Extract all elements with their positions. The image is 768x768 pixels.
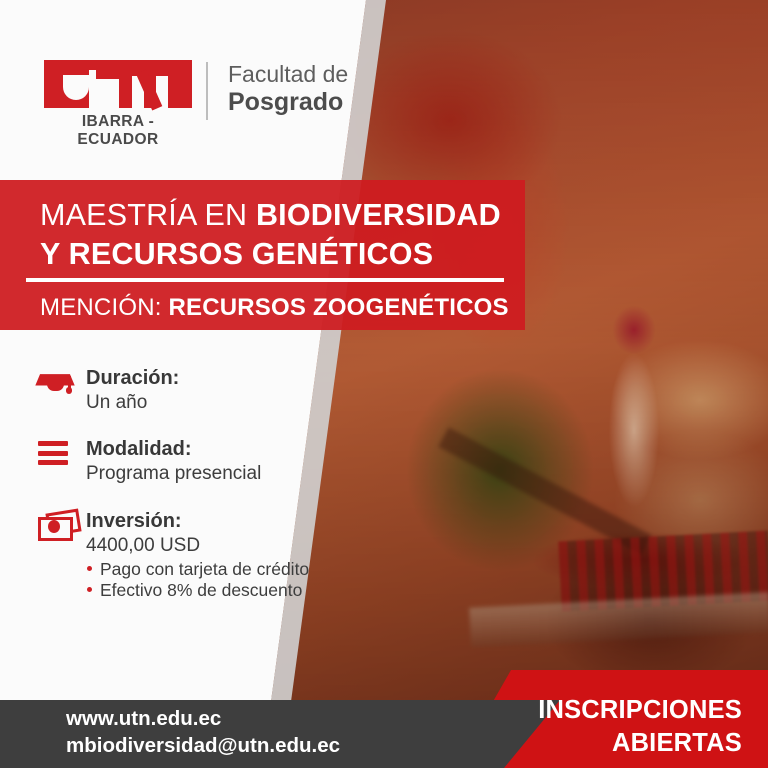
header: IBARRA - ECUADOR Facultad de Posgrado [44,60,348,134]
mencion-value: RECURSOS ZOOGENÉTICOS [168,294,508,321]
footer-links: www.utn.edu.ec mbiodiversidad@utn.edu.ec [66,706,340,759]
money-icon [38,511,78,541]
graduation-cap-icon [38,368,78,398]
faculty-line-2: Posgrado [228,88,348,116]
info-value-inversion: 4400,00 USD [86,534,338,558]
program-title: MAESTRÍA EN BIODIVERSIDAD Y RECURSOS GEN… [40,196,510,274]
logo-letter-t-right [106,78,119,108]
website-suffix: .edu.ec [151,707,222,730]
logo-letter-u [63,75,89,100]
logo-top-bar [44,60,192,69]
program-title-prefix: MAESTRÍA EN [40,198,256,232]
program-title-bold-2: Y RECURSOS GENÉTICOS [40,237,433,271]
info-label-modalidad: Modalidad: [86,437,338,462]
mencion-label: MENCIÓN: [40,294,168,321]
cta-line-1: INSCRIPCIONES [470,694,742,727]
info-item-inversion: Inversión: 4400,00 USD Pago con tarjeta … [38,509,338,602]
website-brand: utn [119,707,151,730]
faculty-block: Facultad de Posgrado [228,60,348,116]
utn-logo[interactable]: IBARRA - ECUADOR [44,60,192,134]
email-link[interactable]: mbiodiversidad@utn.edu.ec [66,733,340,760]
bars-icon [38,439,78,469]
inversion-bullet-list: Pago con tarjeta de crédito Efectivo 8% … [86,559,338,602]
title-banner: MAESTRÍA EN BIODIVERSIDAD Y RECURSOS GEN… [0,180,525,330]
info-value-duracion: Un año [86,391,338,415]
header-divider [206,62,208,120]
info-item-modalidad: Modalidad: Programa presencial [38,437,338,486]
info-value-modalidad: Programa presencial [86,462,338,486]
list-item: Pago con tarjeta de crédito [86,559,338,580]
list-item: Efectivo 8% de descuento [86,580,338,601]
info-list: Duración: Un año Modalidad: Programa pre… [38,366,338,624]
info-item-duracion: Duración: Un año [38,366,338,415]
website-prefix: www. [66,707,119,730]
info-label-inversion: Inversión: [86,509,338,534]
mencion-row: MENCIÓN: RECURSOS ZOOGENÉTICOS [40,294,509,322]
banner-divider-line [26,278,504,282]
cta-line-2: ABIERTAS [470,727,742,760]
website-link[interactable]: www.utn.edu.ec [66,706,340,733]
logo-subtitle: IBARRA - ECUADOR [44,113,192,149]
faculty-line-1: Facultad de [228,62,348,88]
program-title-bold-1: BIODIVERSIDAD [256,198,501,232]
utn-logo-mark [44,60,192,108]
logo-letter-t-bar [96,70,126,79]
poster: IBARRA - ECUADOR Facultad de Posgrado MA… [0,0,768,768]
inscriptions-cta: INSCRIPCIONES ABIERTAS [470,694,742,760]
info-label-duracion: Duración: [86,366,338,391]
